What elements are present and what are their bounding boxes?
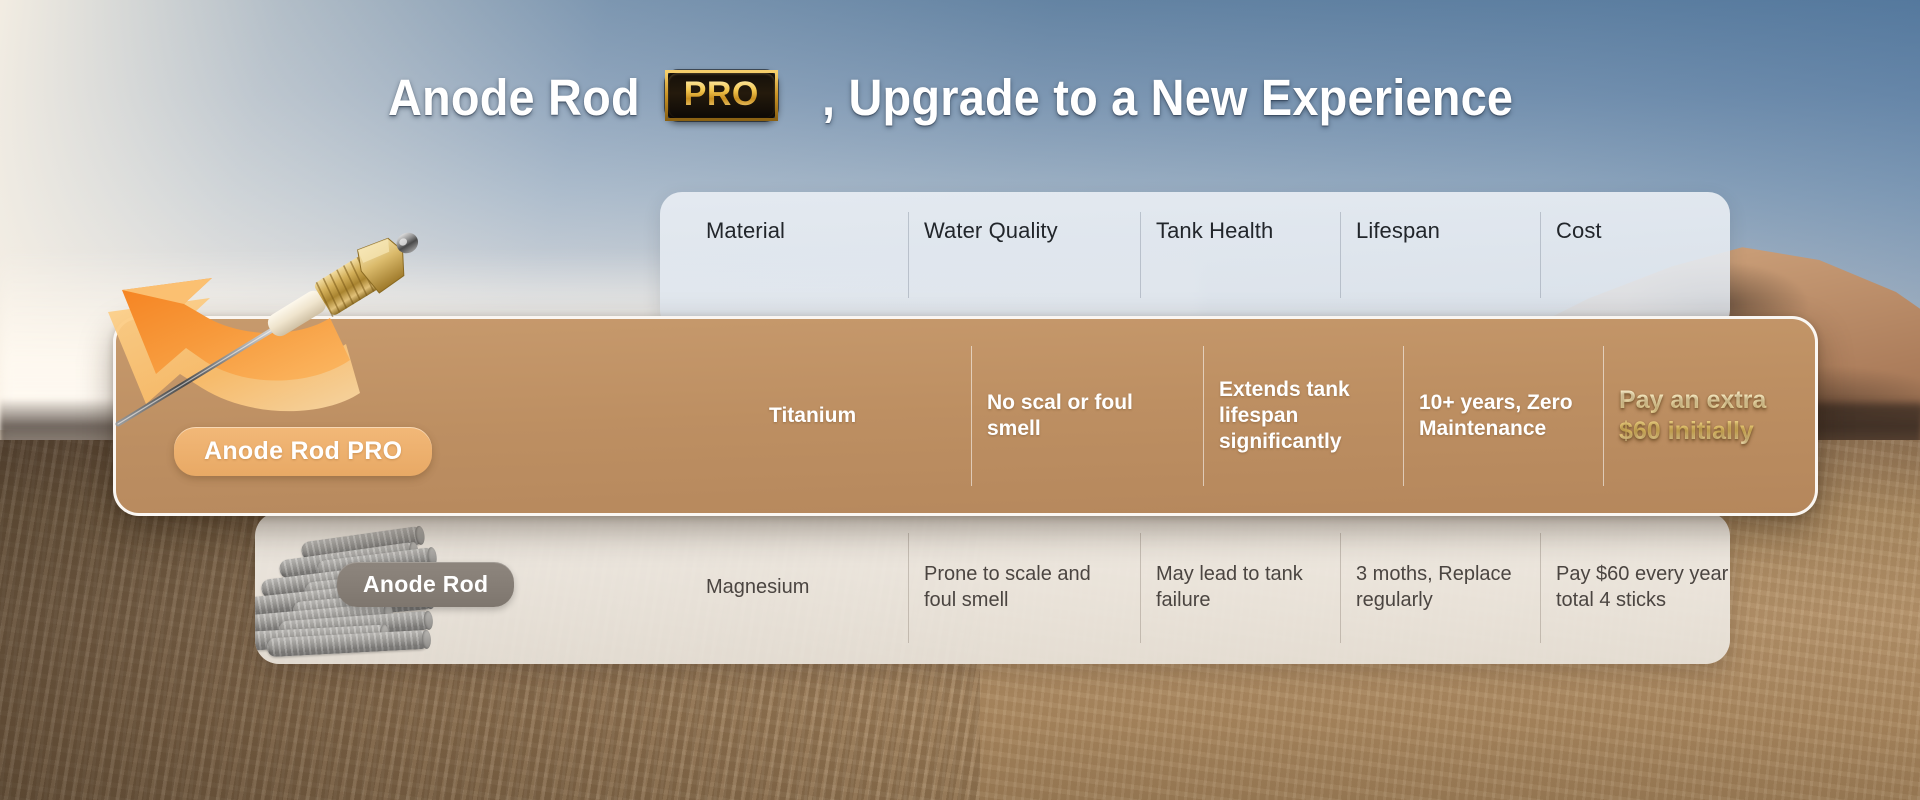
header-label: Lifespan [1356,218,1440,244]
header-label: Tank Health [1156,218,1273,244]
cell-standard-water-quality: Prone to scale and foul smell [908,512,1140,664]
headline-suffix: , Upgrade to a New Experience [822,68,1513,127]
cell-text: Prone to scale and foul smell [924,562,1124,613]
standard-row-cells: Magnesium Prone to scale and foul smell … [660,512,1730,664]
cell-pro-water-quality: No scal or foul smell [971,319,1203,513]
header-cell-material: Material [690,192,908,332]
cell-text: Titanium [769,403,856,429]
cell-standard-material: Magnesium [690,512,908,664]
header-cell-tank-health: Tank Health [1140,192,1340,332]
pro-badge: PRO [665,70,778,122]
cell-pro-cost: Pay an extra $60 initially [1603,319,1818,513]
cell-text: May lead to tank failure [1156,562,1324,613]
header-columns: Material Water Quality Tank Health Lifes… [660,192,1730,332]
cell-text: Extends tank lifespan significantly [1219,377,1387,455]
header-label: Cost [1556,218,1602,244]
cell-pro-lifespan: 10+ years, Zero Maintenance [1403,319,1603,513]
cell-standard-lifespan: 3 moths, Replace regularly [1340,512,1540,664]
headline: Anode Rod PRO , Upgrade to a New Experie… [0,68,1920,127]
product-label-standard: Anode Rod [337,562,514,607]
product-label-pro: Anode Rod PRO [174,427,432,476]
cell-text: Magnesium [706,575,809,601]
table-row-pro: Anode Rod PRO Titanium No scal or foul s… [113,316,1818,516]
pro-columns: Titanium No scal or foul smell Extends t… [735,319,1815,513]
cell-standard-cost: Pay $60 every year total 4 sticks [1540,512,1730,664]
header-cell-water-quality: Water Quality [908,192,1140,332]
cell-text: Pay an extra $60 initially [1619,385,1805,447]
header-label: Water Quality [924,218,1058,244]
standard-columns: Magnesium Prone to scale and foul smell … [660,512,1730,664]
table-row-standard: Anode Rod Magnesium Prone to scale and f… [255,512,1730,664]
cell-pro-material: Titanium [753,319,971,513]
promo-banner: Anode Rod PRO , Upgrade to a New Experie… [0,0,1920,800]
pro-row-cells: Titanium No scal or foul smell Extends t… [735,319,1815,513]
cell-text: 3 moths, Replace regularly [1356,562,1524,613]
cell-pro-tank-health: Extends tank lifespan significantly [1203,319,1403,513]
header-cell-cost: Cost [1540,192,1730,332]
header-label: Material [706,218,785,244]
cell-text: 10+ years, Zero Maintenance [1419,390,1587,442]
header-cell-lifespan: Lifespan [1340,192,1540,332]
table-header-card: Material Water Quality Tank Health Lifes… [660,192,1730,332]
cell-text: No scal or foul smell [987,390,1187,442]
cell-text: Pay $60 every year total 4 sticks [1556,562,1730,613]
pro-badge-label: PRO [684,77,759,113]
headline-prefix: Anode Rod [388,68,640,127]
cell-standard-tank-health: May lead to tank failure [1140,512,1340,664]
